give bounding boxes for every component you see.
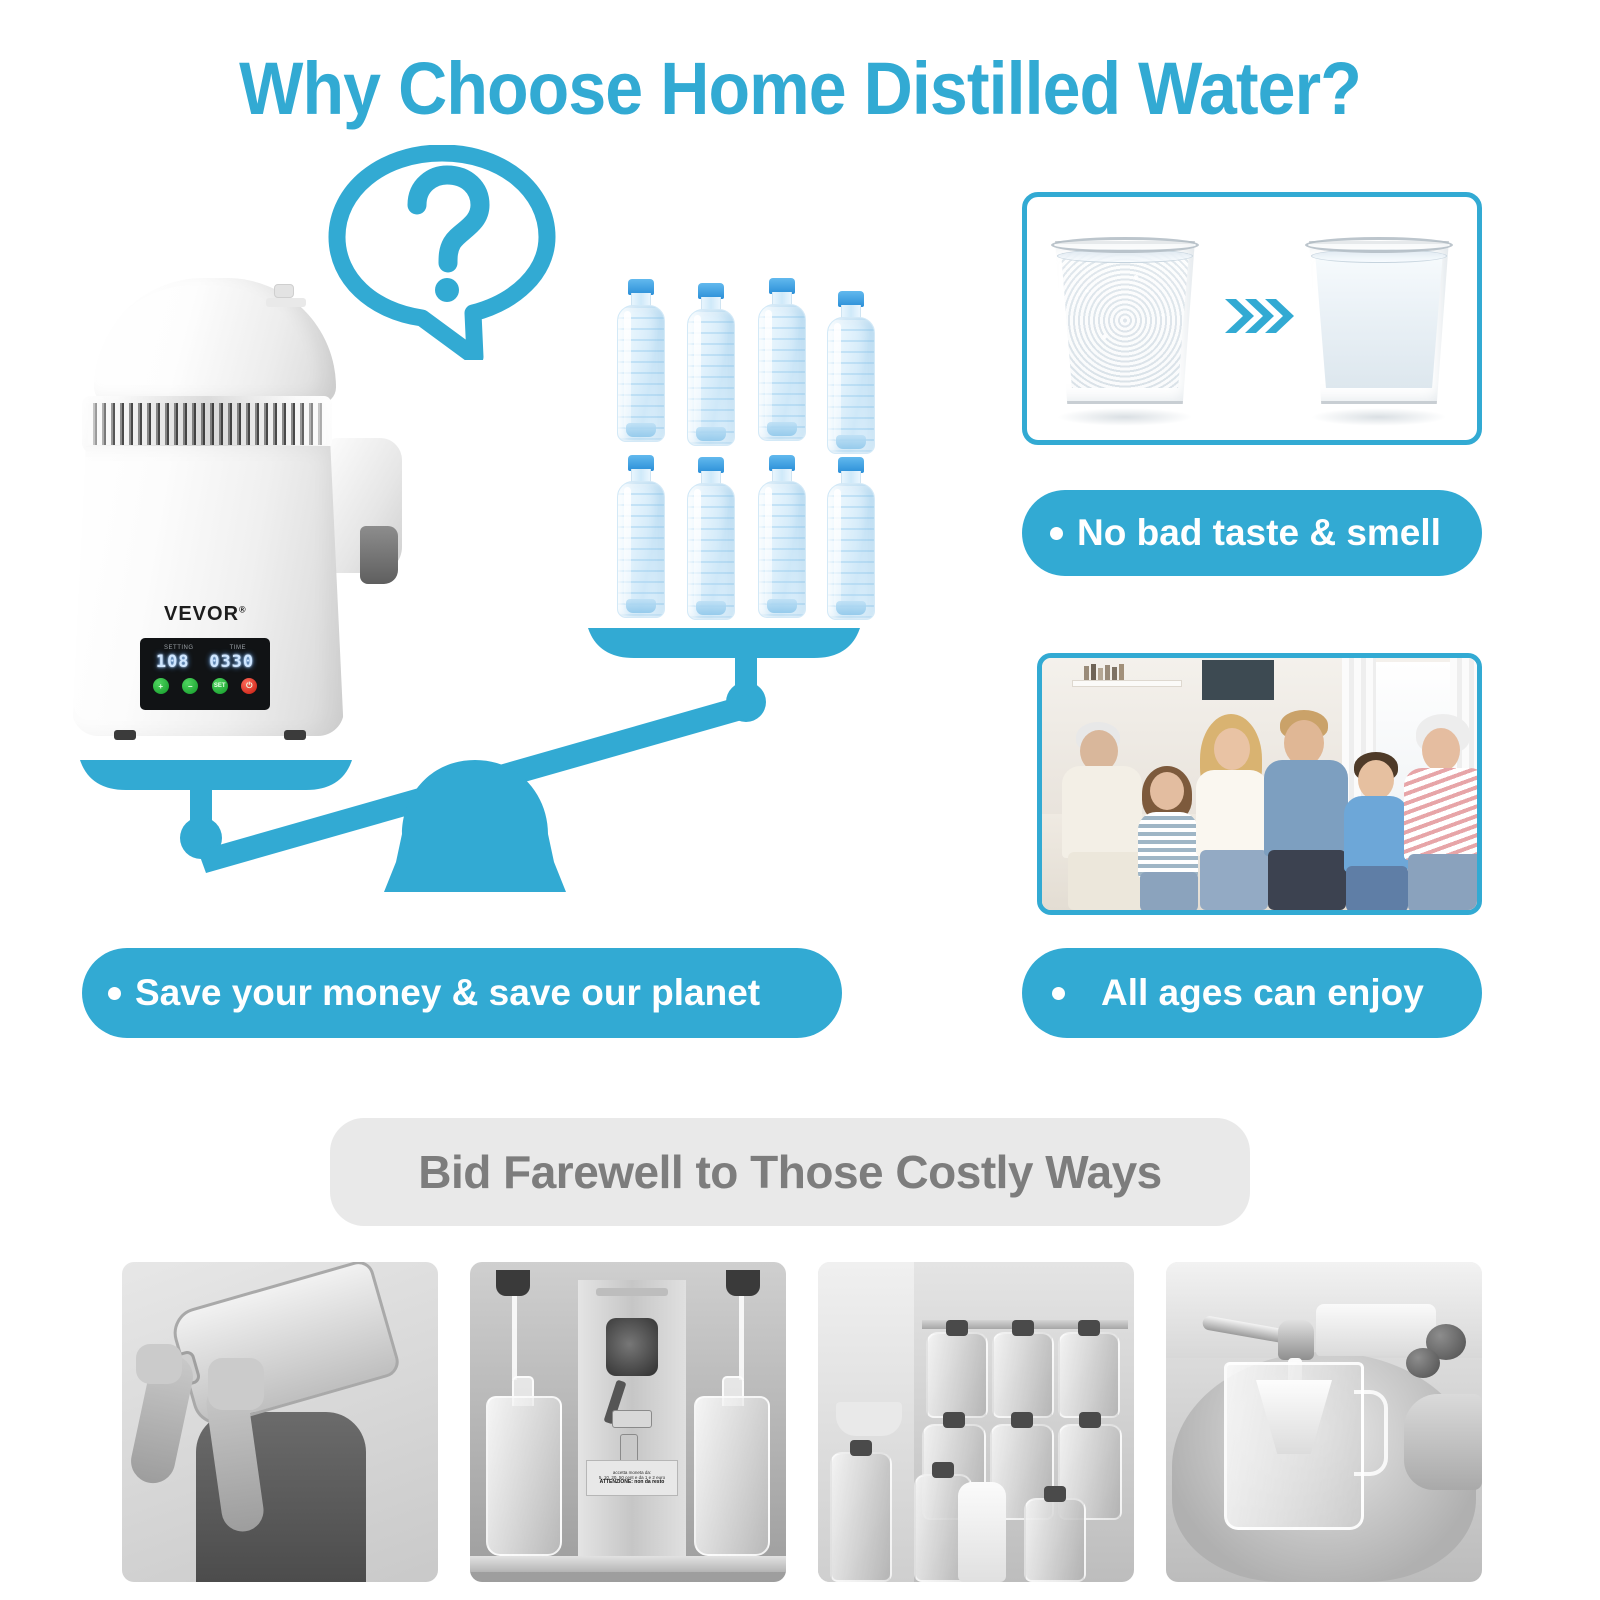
photo-carrying-water-jug (122, 1262, 438, 1582)
family-photo-card (1037, 653, 1482, 915)
bullet-dot (108, 987, 121, 1000)
family-member (1134, 742, 1200, 910)
brand-trademark: ® (239, 604, 247, 614)
photo-filter-pitcher-tap (1166, 1262, 1482, 1582)
section-banner: Bid Farewell to Those Costly Ways (330, 1118, 1250, 1226)
family-member (1404, 714, 1482, 910)
bullet-dot (1052, 987, 1065, 1000)
costly-ways-photo-row: accetta moneta da: 5, 10, 20, 50 cent e … (122, 1262, 1482, 1582)
distiller-vent-grille (82, 396, 332, 452)
water-bottle (755, 278, 809, 441)
photo-stacked-water-jugs (818, 1262, 1134, 1582)
benefit-all-ages: All ages can enjoy (1022, 948, 1482, 1038)
water-bottle (684, 283, 738, 446)
water-comparison-card (1022, 192, 1482, 445)
photo-water-vending-machine: accetta moneta da: 5, 10, 20, 50 cent e … (470, 1262, 786, 1582)
distiller-lid (94, 278, 336, 404)
sign-line-3: ATTENZIONE: non da resto (600, 1480, 665, 1486)
water-bottle (755, 455, 809, 618)
page-title: Why Choose Home Distilled Water? (64, 46, 1536, 131)
balance-scale-illustration (80, 620, 870, 910)
distiller-lid-tab (266, 298, 306, 307)
clear-water-glass (1303, 241, 1455, 404)
water-bottle (614, 455, 668, 618)
family-member (1342, 734, 1412, 910)
benefit-taste-smell: No bad taste & smell (1022, 490, 1482, 576)
bottled-water-group (600, 275, 890, 635)
water-bottle (824, 457, 878, 620)
distiller-lid-knob (274, 284, 294, 298)
family-member (1192, 714, 1272, 910)
water-bottle (684, 457, 738, 620)
water-bottle (614, 279, 668, 442)
infographic-root: Why Choose Home Distilled Water? VEVOR® … (0, 0, 1600, 1600)
section-banner-label: Bid Farewell to Those Costly Ways (418, 1145, 1162, 1199)
bullet-dot (1050, 527, 1063, 540)
benefit-taste-smell-label: No bad taste & smell (1077, 512, 1441, 554)
family-member (1062, 720, 1144, 910)
benefit-save-money-label: Save your money & save our planet (135, 972, 760, 1014)
vending-machine-sign: accetta moneta da: 5, 10, 20, 50 cent e … (586, 1460, 678, 1496)
family-member (1264, 710, 1348, 910)
benefit-all-ages-label: All ages can enjoy (1101, 972, 1424, 1014)
cloudy-water-glass (1049, 241, 1201, 404)
benefit-save-money: Save your money & save our planet (82, 948, 842, 1038)
water-bottle (824, 291, 878, 454)
distiller-spout-outlet (360, 526, 398, 584)
triple-chevron-right-icon (1223, 295, 1295, 337)
